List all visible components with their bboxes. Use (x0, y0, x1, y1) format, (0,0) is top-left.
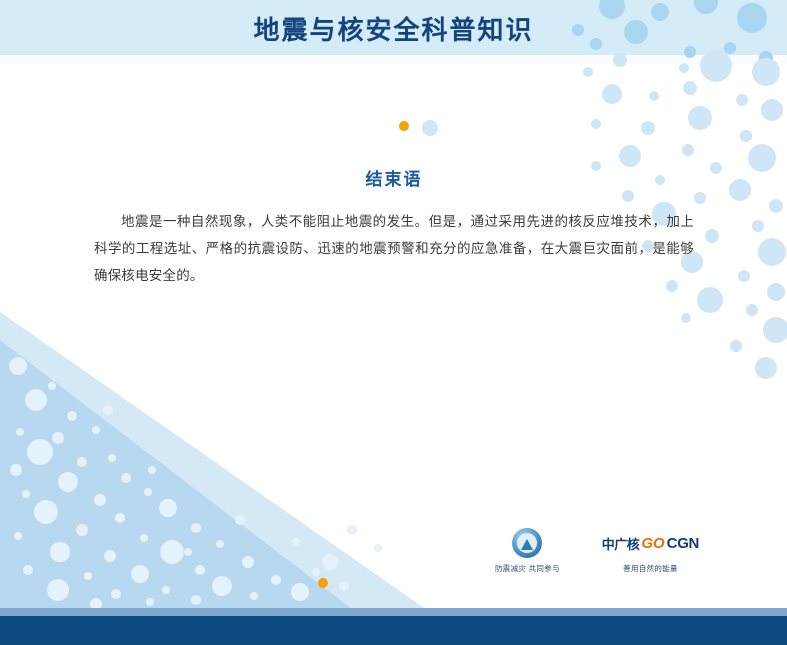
bubble-dot (758, 238, 786, 266)
bubble-dot (710, 162, 722, 174)
bubble-dot (619, 145, 641, 167)
footer-bar (0, 616, 787, 645)
bubble-dot (729, 179, 751, 201)
page-title: 地震与核安全科普知识 (0, 10, 787, 47)
bubble-dot (688, 106, 712, 130)
seal-icon (512, 528, 542, 558)
slide-canvas: 地震与核安全科普知识 结束语 地震是一种自然现象，人类不能阻止地震的发生。但是，… (0, 0, 787, 645)
section-heading: 结束语 (94, 165, 694, 190)
bubble-dot (730, 340, 742, 352)
bubble-dot (736, 94, 748, 106)
bubble-dot (705, 229, 719, 243)
bubble-dot (752, 220, 764, 232)
bubble-dot (694, 192, 706, 204)
bubble-dot (347, 525, 357, 535)
body-paragraph: 地震是一种自然现象，人类不能阻止地震的发生。但是，通过采用先进的核反应堆技术，加… (94, 208, 694, 289)
bubble-dot (602, 84, 622, 104)
cgn-chinese-text: 中广核 (602, 534, 640, 553)
seal-inner-icon (517, 533, 537, 553)
bubble-dot (755, 357, 777, 379)
bubble-dot (738, 270, 750, 282)
disaster-prevention-seal: 防震减灾 共同参与 (495, 528, 560, 574)
cgn-caption: 善用自然的能量 (623, 563, 678, 574)
bubble-dot (697, 287, 723, 313)
accent-dot (399, 121, 409, 131)
bubble-dot (769, 199, 783, 213)
bubble-dot (683, 81, 697, 95)
cgn-logo: 中广核 GO CGN 善用自然的能量 (602, 528, 699, 574)
bubble-dot (681, 313, 691, 323)
header-band-fade (0, 55, 787, 64)
bubble-dot (682, 144, 694, 156)
seal-caption: 防震减灾 共同参与 (495, 563, 560, 574)
bubble-dot (746, 304, 758, 316)
footer-accent-strip (0, 608, 787, 616)
bubble-dot (583, 67, 593, 77)
bubble-dot (641, 121, 655, 135)
main-content: 结束语 地震是一种自然现象，人类不能阻止地震的发生。但是，通过采用先进的核反应堆… (94, 165, 694, 289)
bubble-dot (679, 63, 689, 73)
cgn-swoosh-icon: GO (641, 535, 664, 552)
bubble-dot (374, 544, 382, 552)
bubble-dot (767, 283, 785, 301)
bubble-dot (591, 119, 601, 129)
bubble-dot (740, 130, 752, 142)
bubble-dot (761, 99, 783, 121)
bubble-dot (422, 120, 438, 136)
cgn-english-text: CGN (667, 535, 699, 552)
bubble-dot (748, 144, 776, 172)
logo-row: 防震减灾 共同参与 中广核 GO CGN 善用自然的能量 (495, 528, 745, 588)
house-icon (521, 539, 533, 550)
cgn-wordmark: 中广核 GO CGN (602, 528, 699, 558)
bubble-dot (763, 317, 787, 343)
decorative-triangle-dark (0, 340, 356, 612)
bubble-dot (649, 91, 659, 101)
